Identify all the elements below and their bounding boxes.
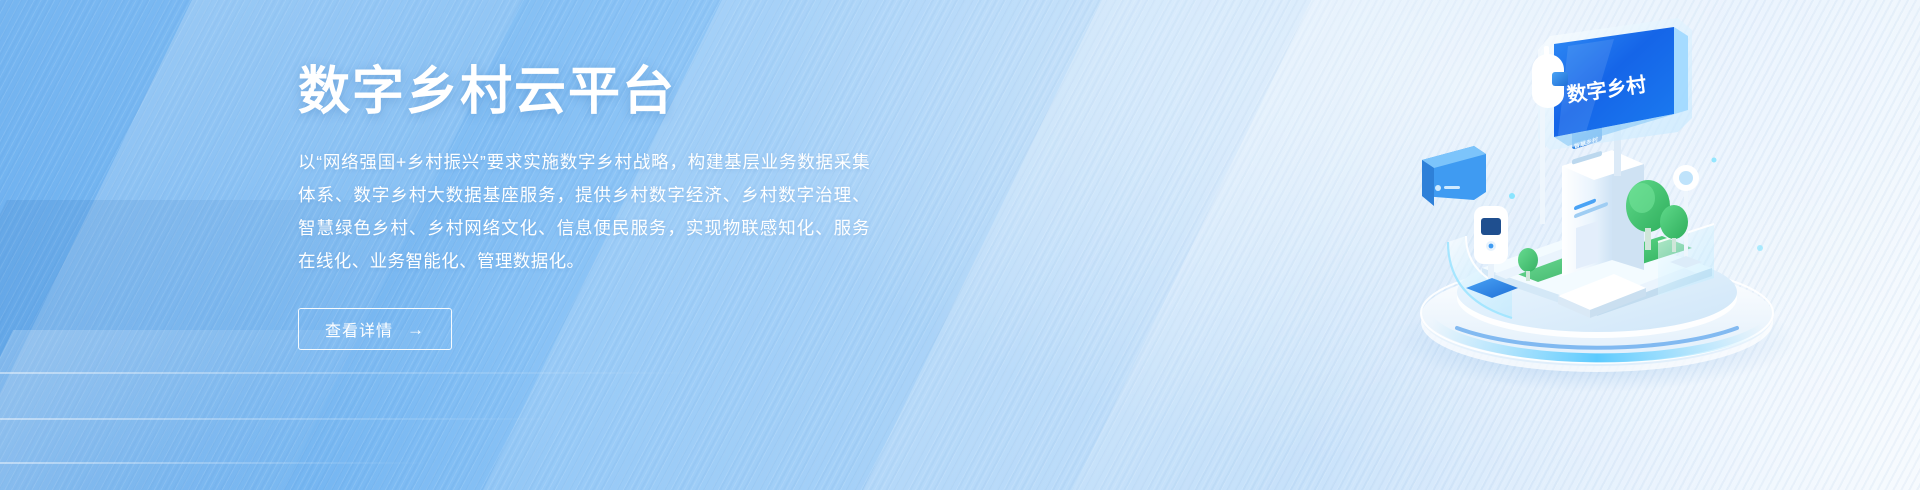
hero-banner: 数字乡村云平台 以“网络强国+乡村振兴”要求实施数字乡村战略，构建基层业务数据采…: [0, 0, 1920, 490]
page-title: 数字乡村云平台: [298, 66, 898, 118]
background-band-3: [0, 462, 430, 464]
view-details-label: 查看详情: [325, 317, 393, 341]
banner-description: 以“网络强国+乡村振兴”要求实施数字乡村战略，构建基层业务数据采集体系、数字乡村…: [298, 146, 870, 278]
banner-content: 数字乡村云平台 以“网络强国+乡村振兴”要求实施数字乡村战略，构建基层业务数据采…: [298, 66, 898, 350]
view-details-button[interactable]: 查看详情 →: [298, 308, 452, 350]
smart-village-illustration: 智慧乡村 数字乡村: [1362, 10, 1832, 400]
accent-dot-1: [1509, 193, 1515, 199]
sensor-indicator: [1552, 72, 1568, 86]
arrow-right-icon: →: [407, 321, 425, 338]
accent-dot-3: [1757, 245, 1763, 251]
background-band-2: [0, 418, 560, 420]
background-facet-6: [0, 330, 533, 490]
accent-dot-2: [1712, 158, 1717, 163]
terminal-display: [1481, 218, 1501, 235]
background-band-1: [0, 372, 700, 374]
floating-blue-card: [1422, 146, 1486, 206]
